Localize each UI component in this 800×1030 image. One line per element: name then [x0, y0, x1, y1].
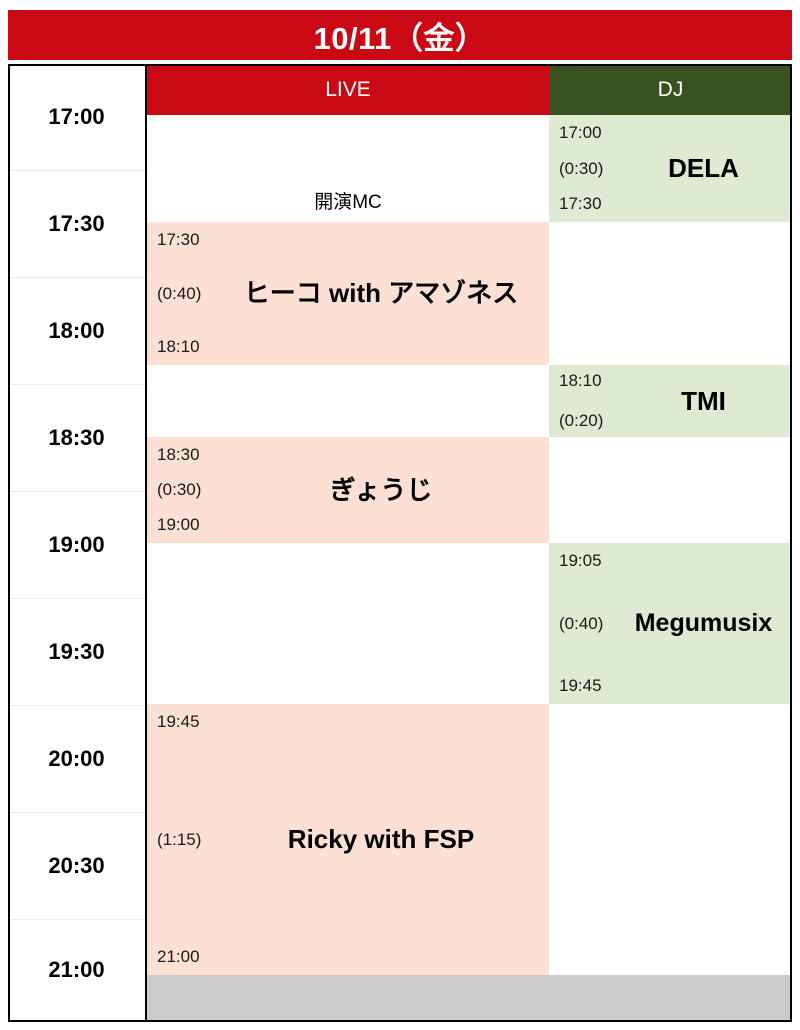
column-header-live: LIVE	[147, 64, 549, 115]
event-duration: (0:40)	[157, 284, 201, 304]
event-end-time: 18:10	[157, 337, 200, 357]
event-times: 17:30 (0:40) 18:10	[147, 222, 221, 365]
schedule-end-bar	[147, 975, 792, 1020]
time-slot: 20:30	[8, 813, 145, 920]
event-duration: (1:15)	[157, 830, 201, 850]
event-start-time: 18:30	[157, 445, 200, 465]
time-slot: 21:00	[8, 920, 145, 1020]
event-title: 開演MC	[314, 187, 382, 214]
event-block-live-0[interactable]: 開演MC	[147, 160, 549, 220]
event-block-dj-1[interactable]: 18:10 (0:20) TMI	[549, 365, 792, 437]
time-slot: 18:00	[8, 278, 145, 385]
event-title: Megumusix	[623, 610, 792, 638]
event-times: 19:45 (1:15) 21:00	[147, 704, 221, 975]
timetable-root: 10/11（金） 17:00 17:30 18:00 18:30 19:00 1…	[0, 0, 800, 1030]
event-times: 19:05 (0:40) 19:45	[549, 543, 623, 704]
column-header-dj: DJ	[549, 64, 792, 115]
event-end-time: 19:45	[559, 676, 602, 696]
event-start-time: 19:05	[559, 551, 602, 571]
event-title: ぎょうじ	[221, 476, 549, 505]
time-slot: 19:30	[8, 599, 145, 706]
event-end-time: 17:30	[559, 194, 602, 214]
event-block-live-3[interactable]: 19:45 (1:15) 21:00 Ricky with FSP	[147, 704, 549, 975]
event-block-live-2[interactable]: 18:30 (0:30) 19:00 ぎょうじ	[147, 437, 549, 543]
event-block-dj-0[interactable]: 17:00 (0:30) 17:30 DELA	[549, 115, 792, 222]
time-axis-column: 17:00 17:30 18:00 18:30 19:00 19:30 20:0…	[8, 64, 147, 1022]
event-times: 18:10 (0:20)	[549, 365, 623, 437]
event-title: TMI	[623, 387, 792, 416]
event-start-time: 19:45	[157, 712, 200, 732]
event-start-time: 17:00	[559, 123, 602, 143]
time-slot: 19:00	[8, 492, 145, 599]
event-block-dj-2[interactable]: 19:05 (0:40) 19:45 Megumusix	[549, 543, 792, 704]
event-title: DELA	[623, 154, 792, 183]
event-duration: (0:40)	[559, 614, 603, 634]
time-slot: 17:00	[8, 64, 145, 171]
time-slot: 18:30	[8, 385, 145, 492]
event-duration: (0:30)	[559, 159, 603, 179]
time-slot: 17:30	[8, 171, 145, 278]
event-times: 17:00 (0:30) 17:30	[549, 115, 623, 222]
event-start-time: 18:10	[559, 371, 602, 391]
event-title: Ricky with FSP	[221, 825, 549, 854]
event-start-time: 17:30	[157, 230, 200, 250]
event-title: ヒーコ with アマゾネス	[221, 279, 549, 308]
event-duration: (0:30)	[157, 480, 201, 500]
event-end-time: 21:00	[157, 947, 200, 967]
event-times: 18:30 (0:30) 19:00	[147, 437, 221, 543]
date-header: 10/11（金）	[8, 10, 792, 60]
event-end-time: 19:00	[157, 515, 200, 535]
event-duration: (0:20)	[559, 411, 603, 431]
event-block-live-1[interactable]: 17:30 (0:40) 18:10 ヒーコ with アマゾネス	[147, 222, 549, 365]
time-slot: 20:00	[8, 706, 145, 813]
